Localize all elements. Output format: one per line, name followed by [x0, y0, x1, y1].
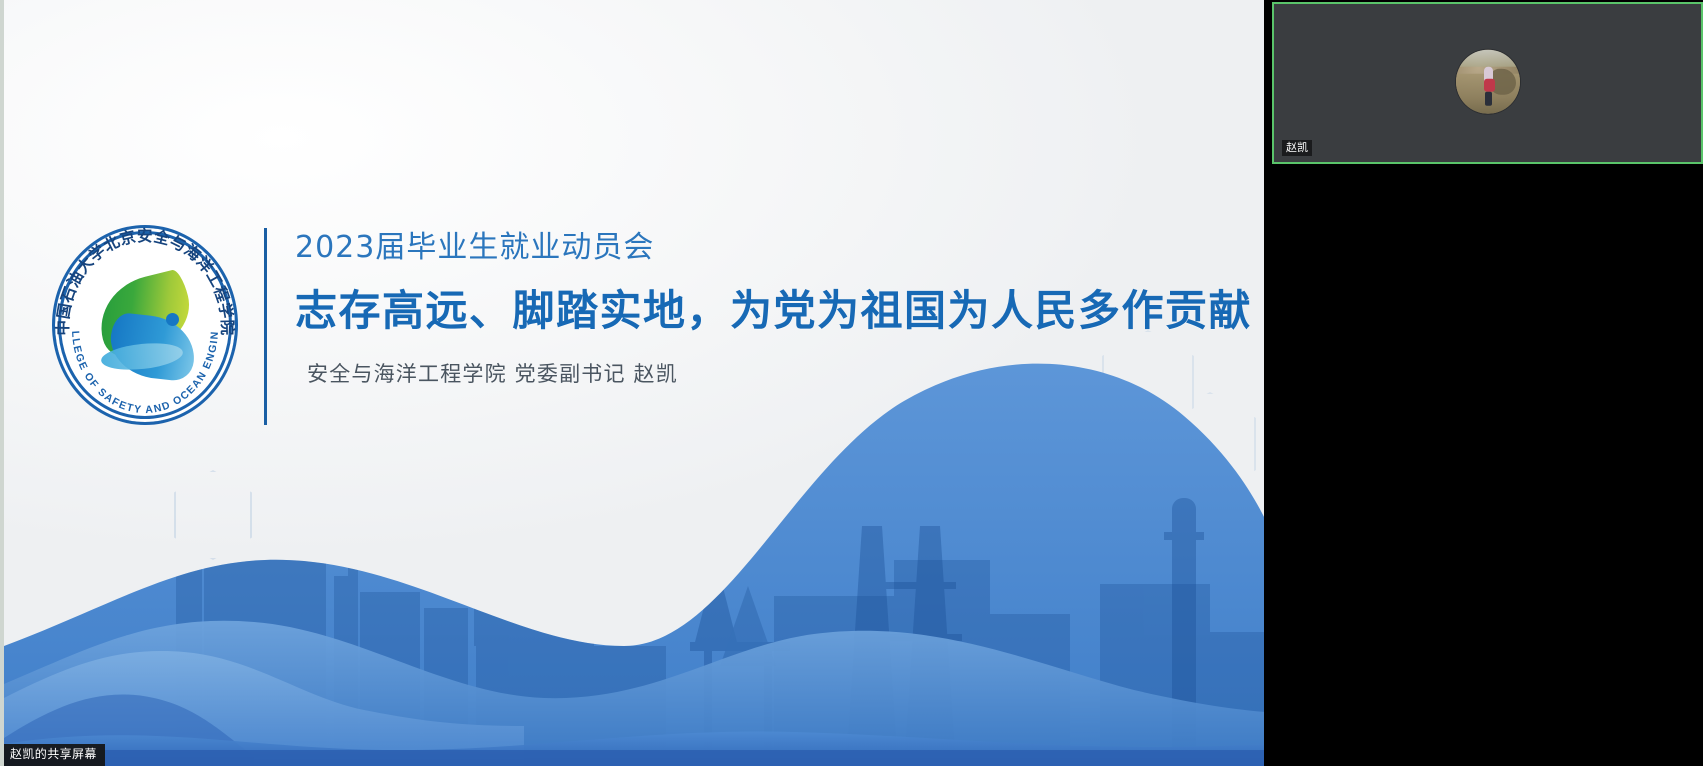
- slide-headline: 志存高远、脚踏实地，为党为祖国为人民多作贡献: [295, 285, 1235, 338]
- logo-arc-text-cn: 中国石油大学北京安全与海洋工程学院: [53, 226, 237, 336]
- participant-name-badge: 赵凯: [1282, 140, 1312, 156]
- college-logo: 中国石油大学北京安全与海洋工程学院 CUP COLLEGE OF SAFETY …: [52, 225, 238, 425]
- participant-strip[interactable]: 赵凯: [1268, 0, 1703, 766]
- slide-title-block: 2023届毕业生就业动员会 志存高远、脚踏实地，为党为祖国为人民多作贡献 安全与…: [295, 228, 1235, 388]
- avatar-sky: [1456, 50, 1520, 67]
- hexagon-decoration-icon: [174, 470, 252, 560]
- slide-presenter: 安全与海洋工程学院 党委副书记 赵凯: [307, 358, 1235, 388]
- presentation-slide: 中国石油大学北京安全与海洋工程学院 CUP COLLEGE OF SAFETY …: [4, 0, 1266, 766]
- title-divider: [264, 228, 267, 425]
- shared-screen-region[interactable]: 中国石油大学北京安全与海洋工程学院 CUP COLLEGE OF SAFETY …: [0, 0, 1266, 766]
- avatar: [1456, 50, 1520, 114]
- slide-kicker: 2023届毕业生就业动员会: [295, 228, 1235, 269]
- participant-video-tile[interactable]: 赵凯: [1272, 2, 1703, 164]
- logo-arc-text: 中国石油大学北京安全与海洋工程学院 CUP COLLEGE OF SAFETY …: [52, 225, 238, 425]
- svg-text:中国石油大学北京安全与海洋工程学院: 中国石油大学北京安全与海洋工程学院: [53, 226, 237, 336]
- avatar-person: [1485, 92, 1492, 106]
- screen-share-label: 赵凯的共享屏幕: [4, 744, 105, 766]
- meeting-stage: 中国石油大学北京安全与海洋工程学院 CUP COLLEGE OF SAFETY …: [0, 0, 1703, 766]
- avatar-person: [1484, 79, 1495, 92]
